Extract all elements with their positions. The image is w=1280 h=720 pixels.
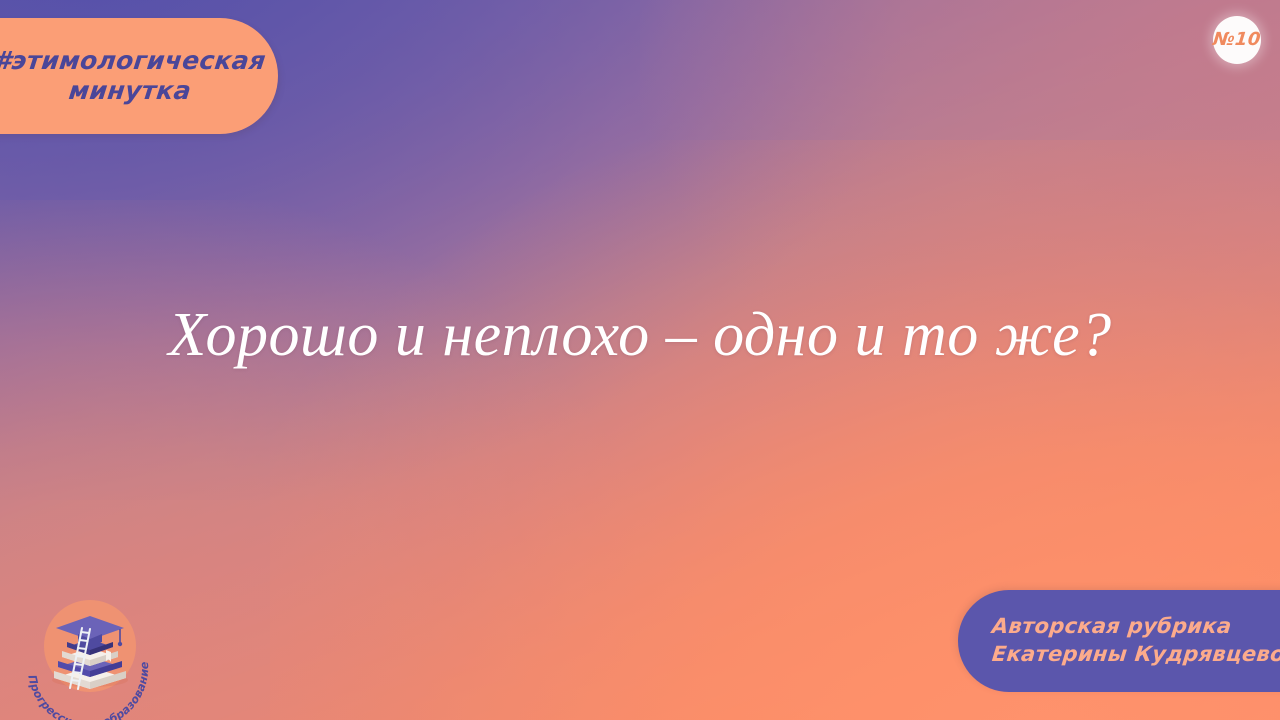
slide-number-badge: №10	[1213, 16, 1261, 64]
hashtag-badge-line-2: минутка	[67, 76, 193, 107]
slide-number-label: №10	[1212, 31, 1262, 49]
page-title: Хорошо и неплохо – одно и то же?	[0, 300, 1280, 371]
author-rubric-line-2: Екатерины Кудрявцевой	[991, 641, 1280, 669]
slide-canvas: #этимологическая минутка №10 Хорошо и не…	[0, 0, 1280, 720]
author-rubric-line-1: Авторская рубрика	[991, 613, 1233, 641]
hashtag-badge-line-1: #этимологическая	[0, 46, 268, 77]
hashtag-badge: #этимологическая минутка	[0, 18, 278, 134]
author-rubric-badge: Авторская рубрика Екатерины Кудрявцевой	[958, 590, 1280, 692]
brand-logo: Прогрессивное образование	[20, 588, 160, 720]
